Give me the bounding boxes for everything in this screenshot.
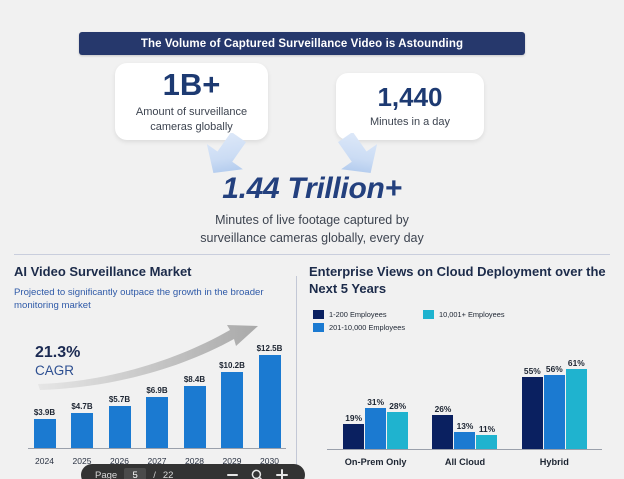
legend-swatch bbox=[423, 310, 434, 319]
bar-value-label: 31% bbox=[367, 397, 384, 407]
pdf-viewer-toolbar[interactable]: Page 5 / 22 bbox=[81, 464, 305, 479]
stat-number: 1,440 bbox=[377, 84, 442, 111]
stat-label-line1: Minutes in a day bbox=[370, 116, 450, 128]
stat-label-line1: Amount of surveillance bbox=[136, 106, 247, 118]
bar-column: $5.7B bbox=[107, 326, 132, 448]
bar-value-label: $12.5B bbox=[257, 344, 283, 353]
bar-value-label: $8.4B bbox=[184, 375, 205, 384]
bar-group: 55%56%61% bbox=[522, 339, 587, 449]
bar-column: 19% bbox=[343, 339, 364, 449]
x-axis-line bbox=[327, 449, 602, 450]
horizontal-divider bbox=[14, 254, 610, 255]
zoom-in-button[interactable] bbox=[273, 466, 291, 479]
bar-rect bbox=[146, 397, 168, 448]
chart-legend: 1-200 Employees10,001+ Employees201-10,0… bbox=[313, 310, 603, 332]
bar-value-label: 61% bbox=[568, 358, 585, 368]
zoom-out-button[interactable] bbox=[223, 466, 241, 479]
bar-value-label: 11% bbox=[479, 424, 495, 434]
legend-item: 201-10,000 Employees bbox=[313, 323, 513, 332]
bar-value-label: $3.9B bbox=[34, 408, 55, 417]
bar-column: 11% bbox=[476, 339, 497, 449]
grouped-bar-series: 19%31%28%26%13%11%55%56%61% bbox=[331, 339, 599, 449]
bar-rect bbox=[221, 372, 243, 448]
bar-value-label: $10.2B bbox=[219, 361, 245, 370]
bar-rect bbox=[387, 412, 408, 449]
bar-rect bbox=[365, 408, 386, 449]
bar-rect bbox=[343, 424, 364, 449]
bar-value-label: 55% bbox=[524, 366, 541, 376]
legend-swatch bbox=[313, 310, 324, 319]
bar-rect bbox=[454, 432, 475, 449]
stat-label: Amount of surveillance cameras globally bbox=[136, 105, 247, 134]
ai-market-bar-chart: 21.3% CAGR $3.9B$4.7B$5.7B$6.9B$8.4B$10.… bbox=[14, 318, 286, 470]
bar-rect bbox=[476, 435, 497, 449]
bar-rect bbox=[109, 406, 131, 448]
bar-column: 26% bbox=[432, 339, 453, 449]
bar-value-label: $5.7B bbox=[109, 395, 130, 404]
bar-column: 56% bbox=[544, 339, 565, 449]
legend-item: 10,001+ Employees bbox=[423, 310, 573, 319]
highlight-caption-line1: Minutes of live footage captured by bbox=[215, 213, 409, 227]
bar-rect bbox=[432, 415, 453, 449]
bar-value-label: 19% bbox=[345, 413, 362, 423]
bar-rect bbox=[71, 413, 93, 448]
stat-number: 1B+ bbox=[163, 69, 221, 102]
x-axis-line bbox=[28, 448, 286, 449]
highlight-caption: Minutes of live footage captured by surv… bbox=[0, 211, 624, 247]
x-group-label: Hybrid bbox=[514, 457, 594, 467]
legend-label: 1-200 Employees bbox=[329, 310, 387, 319]
cloud-deployment-bar-chart: 19%31%28%26%13%11%55%56%61% On-Prem Only… bbox=[313, 332, 611, 470]
bar-rect bbox=[184, 386, 206, 448]
page-number-input[interactable]: 5 bbox=[124, 468, 146, 479]
right-panel-title: Enterprise Views on Cloud Deployment ove… bbox=[309, 264, 614, 297]
stat-label: Minutes in a day bbox=[370, 115, 450, 129]
bar-group: 19%31%28% bbox=[343, 339, 408, 449]
bar-series: $3.9B$4.7B$5.7B$6.9B$8.4B$10.2B$12.5B bbox=[32, 326, 282, 448]
bar-rect bbox=[522, 377, 543, 449]
x-tick-label: 2024 bbox=[32, 456, 57, 466]
legend-swatch bbox=[313, 323, 324, 332]
bar-column: 28% bbox=[387, 339, 408, 449]
stat-card-cameras: 1B+ Amount of surveillance cameras globa… bbox=[115, 63, 268, 140]
bar-rect bbox=[34, 419, 56, 448]
bar-column: 31% bbox=[365, 339, 386, 449]
plus-icon bbox=[276, 469, 288, 479]
left-panel-title: AI Video Surveillance Market bbox=[14, 264, 289, 281]
bar-rect bbox=[259, 355, 281, 448]
vertical-divider bbox=[296, 276, 297, 466]
page-separator: / bbox=[153, 470, 156, 479]
bar-value-label: 26% bbox=[435, 404, 452, 414]
highlight-number: 1.44 Trillion+ bbox=[0, 172, 624, 206]
highlight-block: 1.44 Trillion+ Minutes of live footage c… bbox=[0, 172, 624, 247]
x-group-label: On-Prem Only bbox=[336, 457, 416, 467]
legend-item: 1-200 Employees bbox=[313, 310, 423, 319]
legend-label: 201-10,000 Employees bbox=[329, 323, 405, 332]
bar-column: 55% bbox=[522, 339, 543, 449]
bar-value-label: 28% bbox=[389, 401, 406, 411]
bar-column: $8.4B bbox=[182, 326, 207, 448]
slide-page: The Volume of Captured Surveillance Vide… bbox=[0, 0, 624, 479]
bar-value-label: 13% bbox=[457, 421, 474, 431]
bar-value-label: $6.9B bbox=[146, 386, 167, 395]
bar-column: 61% bbox=[566, 339, 587, 449]
bar-rect bbox=[566, 369, 587, 449]
legend-label: 10,001+ Employees bbox=[439, 310, 505, 319]
bar-value-label: $4.7B bbox=[71, 402, 92, 411]
bar-column: $10.2B bbox=[220, 326, 245, 448]
stat-card-minutes: 1,440 Minutes in a day bbox=[336, 73, 484, 140]
x-axis-group-labels: On-Prem OnlyAll CloudHybrid bbox=[331, 457, 599, 467]
bar-column: $4.7B bbox=[70, 326, 95, 448]
page-label: Page bbox=[95, 470, 117, 479]
bar-group: 26%13%11% bbox=[432, 339, 497, 449]
bar-rect bbox=[544, 375, 565, 449]
bar-column: $6.9B bbox=[145, 326, 170, 448]
minus-icon bbox=[227, 474, 238, 476]
stat-label-line2: cameras globally bbox=[150, 121, 233, 133]
magnifier-icon bbox=[251, 469, 264, 479]
total-pages: 22 bbox=[163, 470, 174, 479]
highlight-caption-line2: surveillance cameras globally, every day bbox=[200, 231, 423, 245]
zoom-reset-button[interactable] bbox=[248, 466, 266, 479]
left-panel-subtitle: Projected to significantly outpace the g… bbox=[14, 286, 272, 312]
bar-column: 13% bbox=[454, 339, 475, 449]
x-group-label: All Cloud bbox=[425, 457, 505, 467]
title-banner: The Volume of Captured Surveillance Vide… bbox=[79, 32, 525, 55]
bar-column: $12.5B bbox=[257, 326, 282, 448]
bar-value-label: 56% bbox=[546, 364, 563, 374]
bar-column: $3.9B bbox=[32, 326, 57, 448]
banner-title: The Volume of Captured Surveillance Vide… bbox=[141, 38, 463, 50]
